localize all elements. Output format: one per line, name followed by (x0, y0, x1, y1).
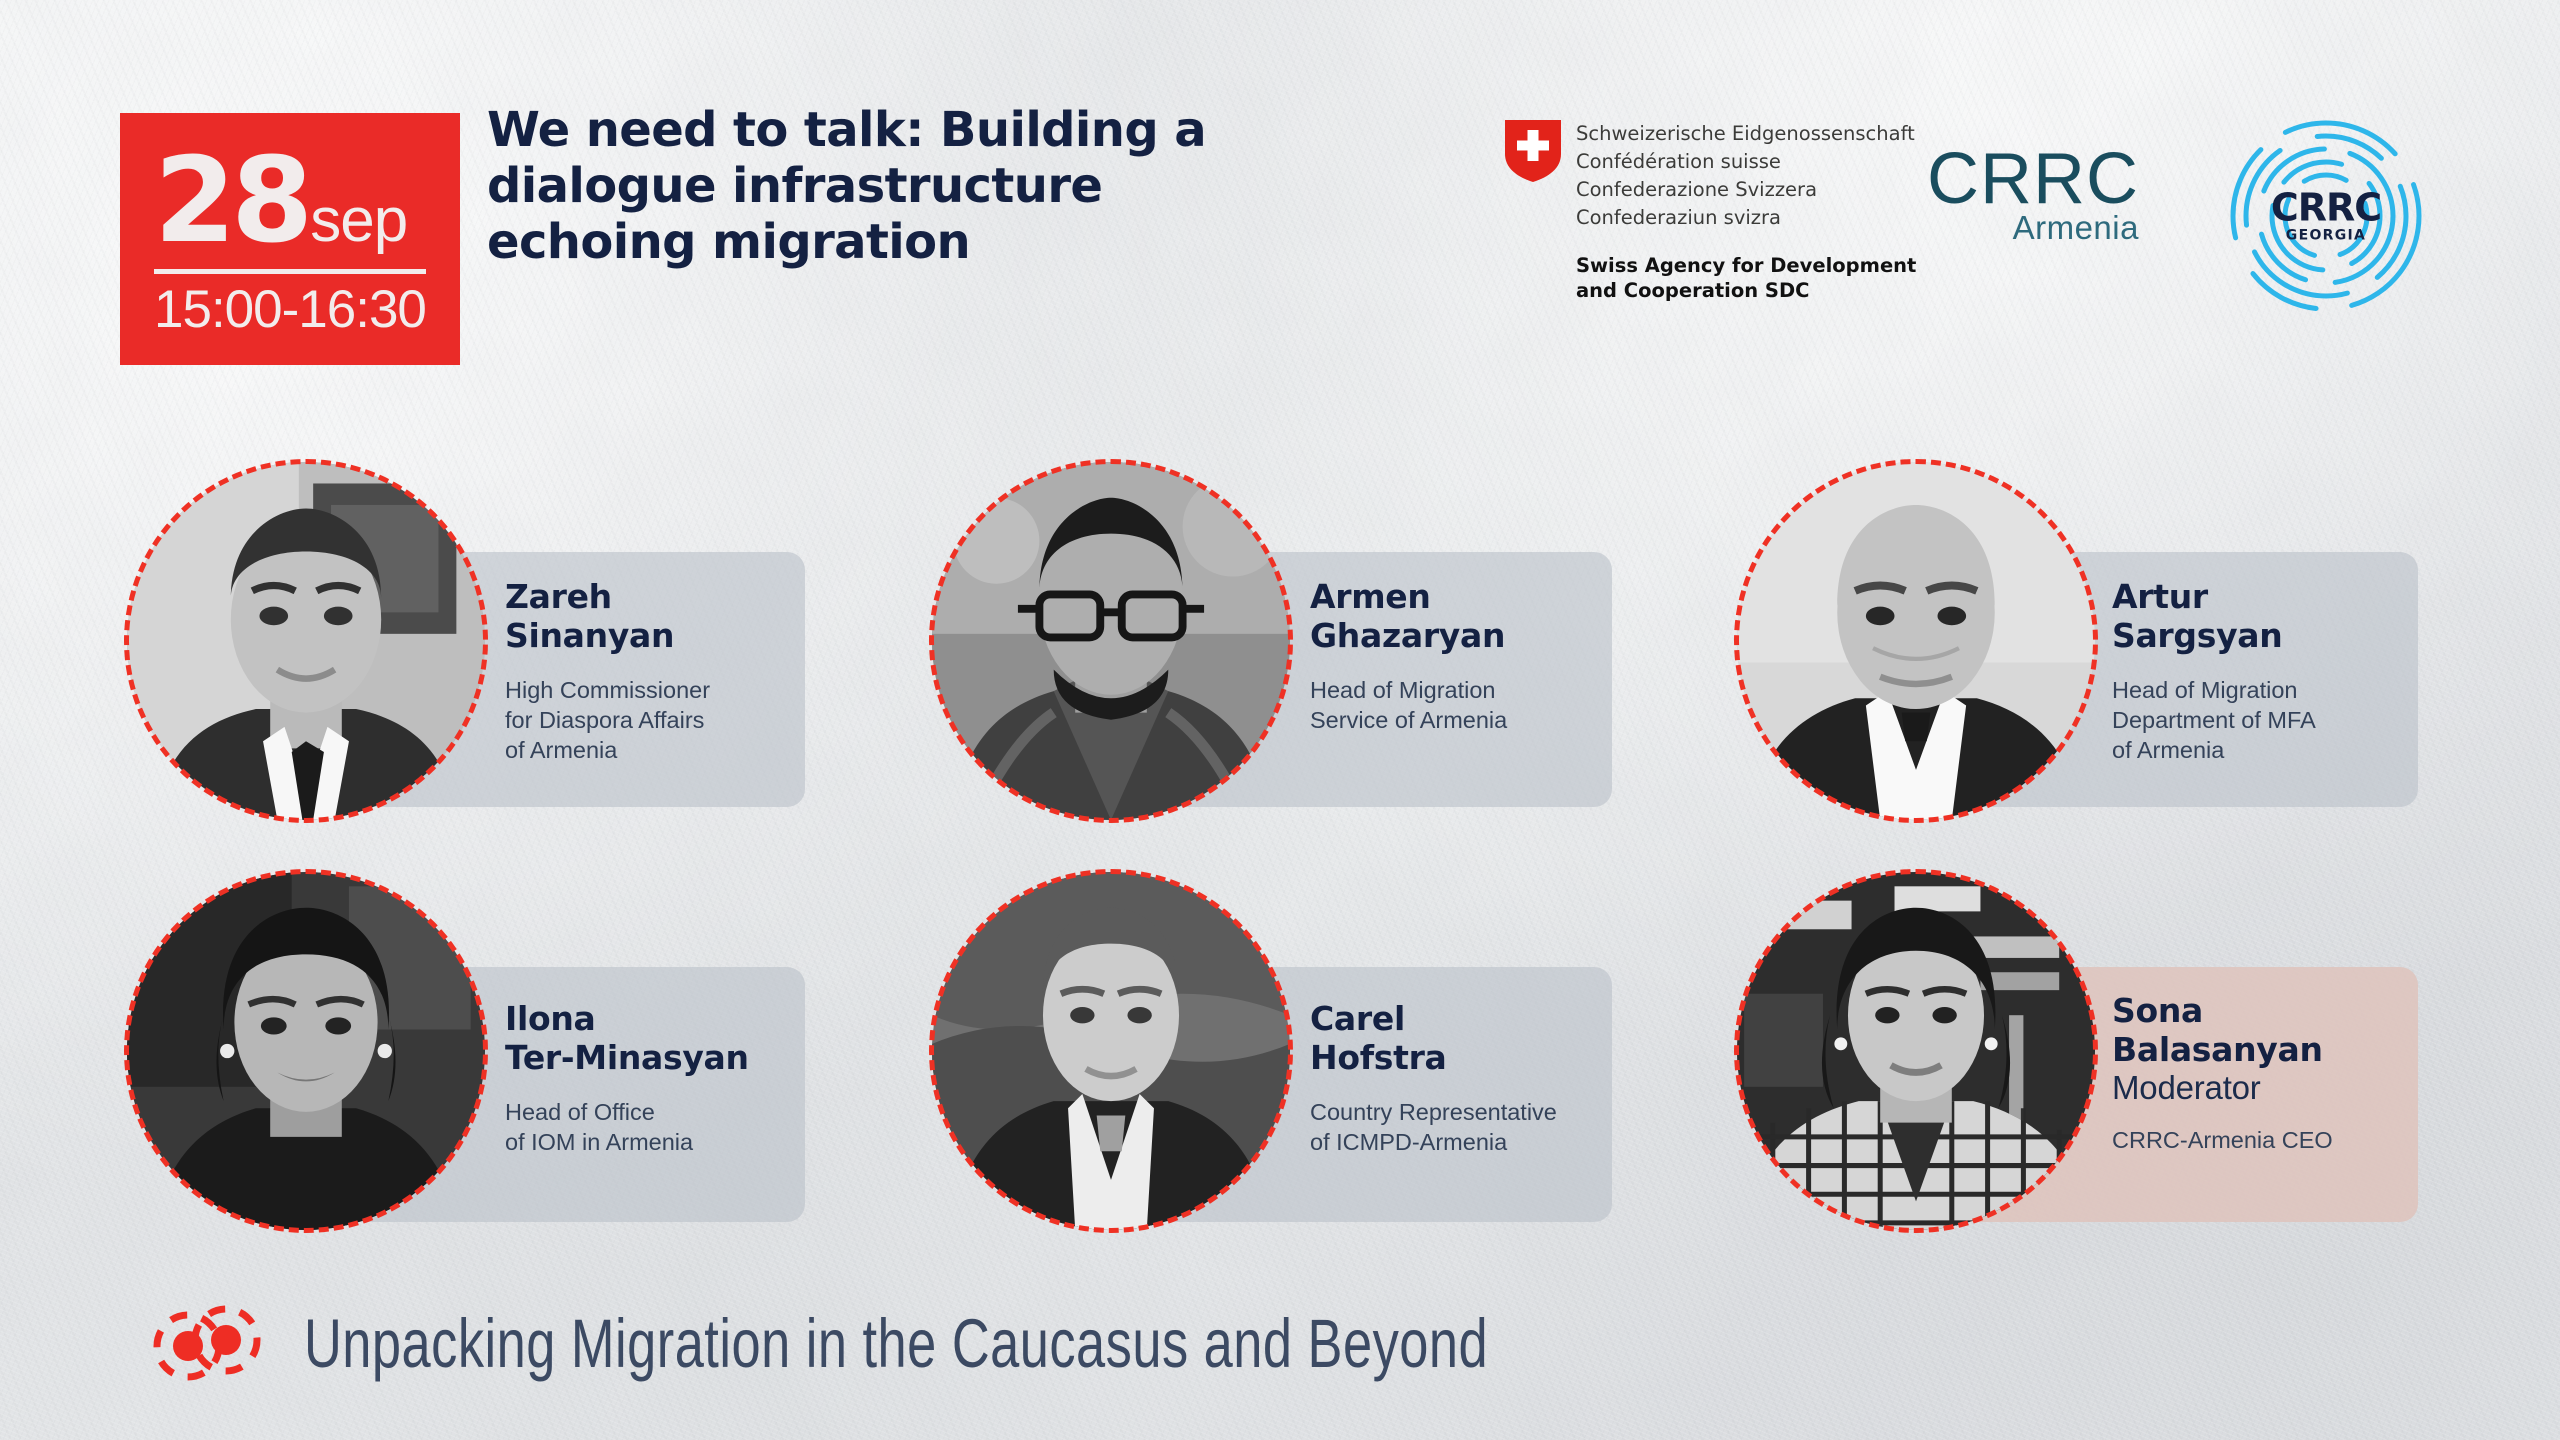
speaker-name: Armen Ghazaryan (1310, 578, 1610, 656)
speaker-role: Head of Migration Service of Armenia (1310, 675, 1610, 735)
moderator-label: Moderator (2112, 1070, 2422, 1106)
speaker-photo-zareh-sinanyan (127, 462, 485, 820)
portrait-illustration (932, 462, 1290, 820)
speaker-info: Zareh Sinanyan High Commissioner for Dia… (505, 578, 795, 765)
speaker-role: High Commissioner for Diaspora Affairs o… (505, 675, 795, 765)
speaker-role: Head of Office of IOM in Armenia (505, 1097, 805, 1157)
speakers-grid: Zareh Sinanyan High Commissioner for Dia… (0, 0, 2560, 1440)
speaker-photo-armen-ghazaryan (932, 462, 1290, 820)
speaker-name: Zareh Sinanyan (505, 578, 795, 656)
two-red-dots-dashed-circles-icon (148, 1302, 268, 1386)
speaker-role: CRRC-Armenia CEO (2112, 1125, 2422, 1155)
portrait-illustration (932, 872, 1290, 1230)
speaker-info: Ilona Ter-Minasyan Head of Office of IOM… (505, 1000, 805, 1157)
speaker-photo-sona-balasanyan (1737, 872, 2095, 1230)
speaker-info: Armen Ghazaryan Head of Migration Servic… (1310, 578, 1610, 735)
speaker-info: Artur Sargsyan Head of Migration Departm… (2112, 578, 2412, 765)
speaker-name: Sona Balasanyan (2112, 992, 2422, 1070)
speaker-role: Country Representative of ICMPD-Armenia (1310, 1097, 1630, 1157)
speaker-photo-artur-sargsyan (1737, 462, 2095, 820)
portrait-illustration (1737, 462, 2095, 820)
speaker-name: Carel Hofstra (1310, 1000, 1630, 1078)
speaker-photo-carel-hofstra (932, 872, 1290, 1230)
portrait-illustration (127, 462, 485, 820)
footer-tagline-row: Unpacking Migration in the Caucasus and … (148, 1302, 1525, 1386)
portrait-illustration (1737, 872, 2095, 1230)
moderator-info: Sona Balasanyan Moderator CRRC-Armenia C… (2112, 992, 2422, 1155)
speaker-info: Carel Hofstra Country Representative of … (1310, 1000, 1630, 1157)
footer-tagline: Unpacking Migration in the Caucasus and … (304, 1304, 1488, 1383)
speaker-name: Artur Sargsyan (2112, 578, 2412, 656)
speaker-role: Head of Migration Department of MFA of A… (2112, 675, 2412, 765)
speaker-photo-ilona-ter-minasyan (127, 872, 485, 1230)
portrait-illustration (127, 872, 485, 1230)
speaker-name: Ilona Ter-Minasyan (505, 1000, 805, 1078)
